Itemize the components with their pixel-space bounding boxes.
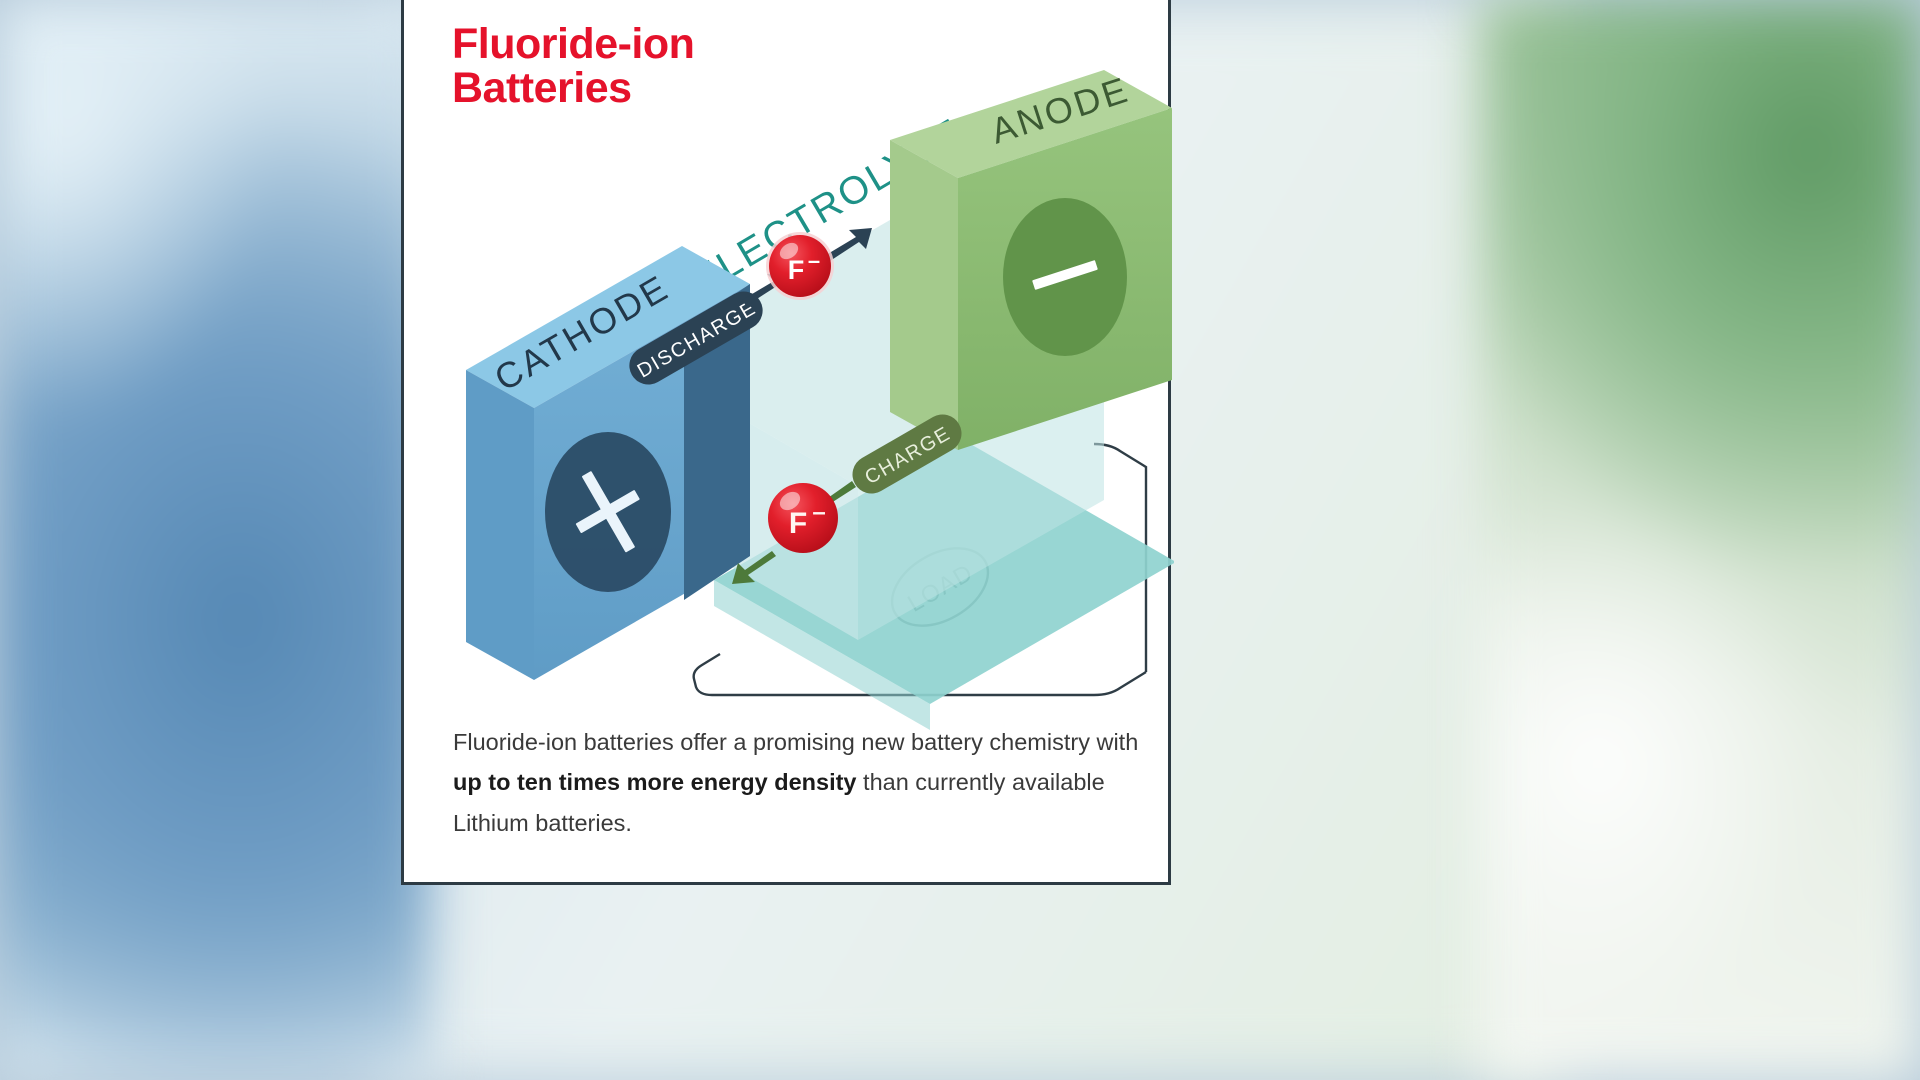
ion-lower-charge: – [812, 499, 825, 526]
caption-emphasis: up to ten times more energy density [453, 769, 857, 795]
fluoride-ion-upper: F – [766, 232, 834, 300]
infographic-card: Fluoride-ion Batteries [401, 0, 1171, 885]
anode-left-face [890, 140, 958, 450]
ion-upper-charge: – [808, 248, 820, 273]
fluoride-ion-lower: F – [768, 483, 838, 553]
battery-diagram: LOAD ELECTROLYTE [404, 40, 1174, 740]
caption-part-1: Fluoride-ion batteries offer a promising… [453, 729, 1138, 755]
screenshot-root: Fluoride-ion Batteries [0, 0, 1920, 1080]
caption-text: Fluoride-ion batteries offer a promising… [453, 722, 1143, 843]
ion-upper-label: F [788, 255, 805, 285]
background-left-blue-blur [0, 0, 430, 1080]
cathode-left-face [466, 370, 534, 680]
ion-lower-label: F [789, 507, 807, 540]
background-right-green-blur [1480, 0, 1920, 1080]
